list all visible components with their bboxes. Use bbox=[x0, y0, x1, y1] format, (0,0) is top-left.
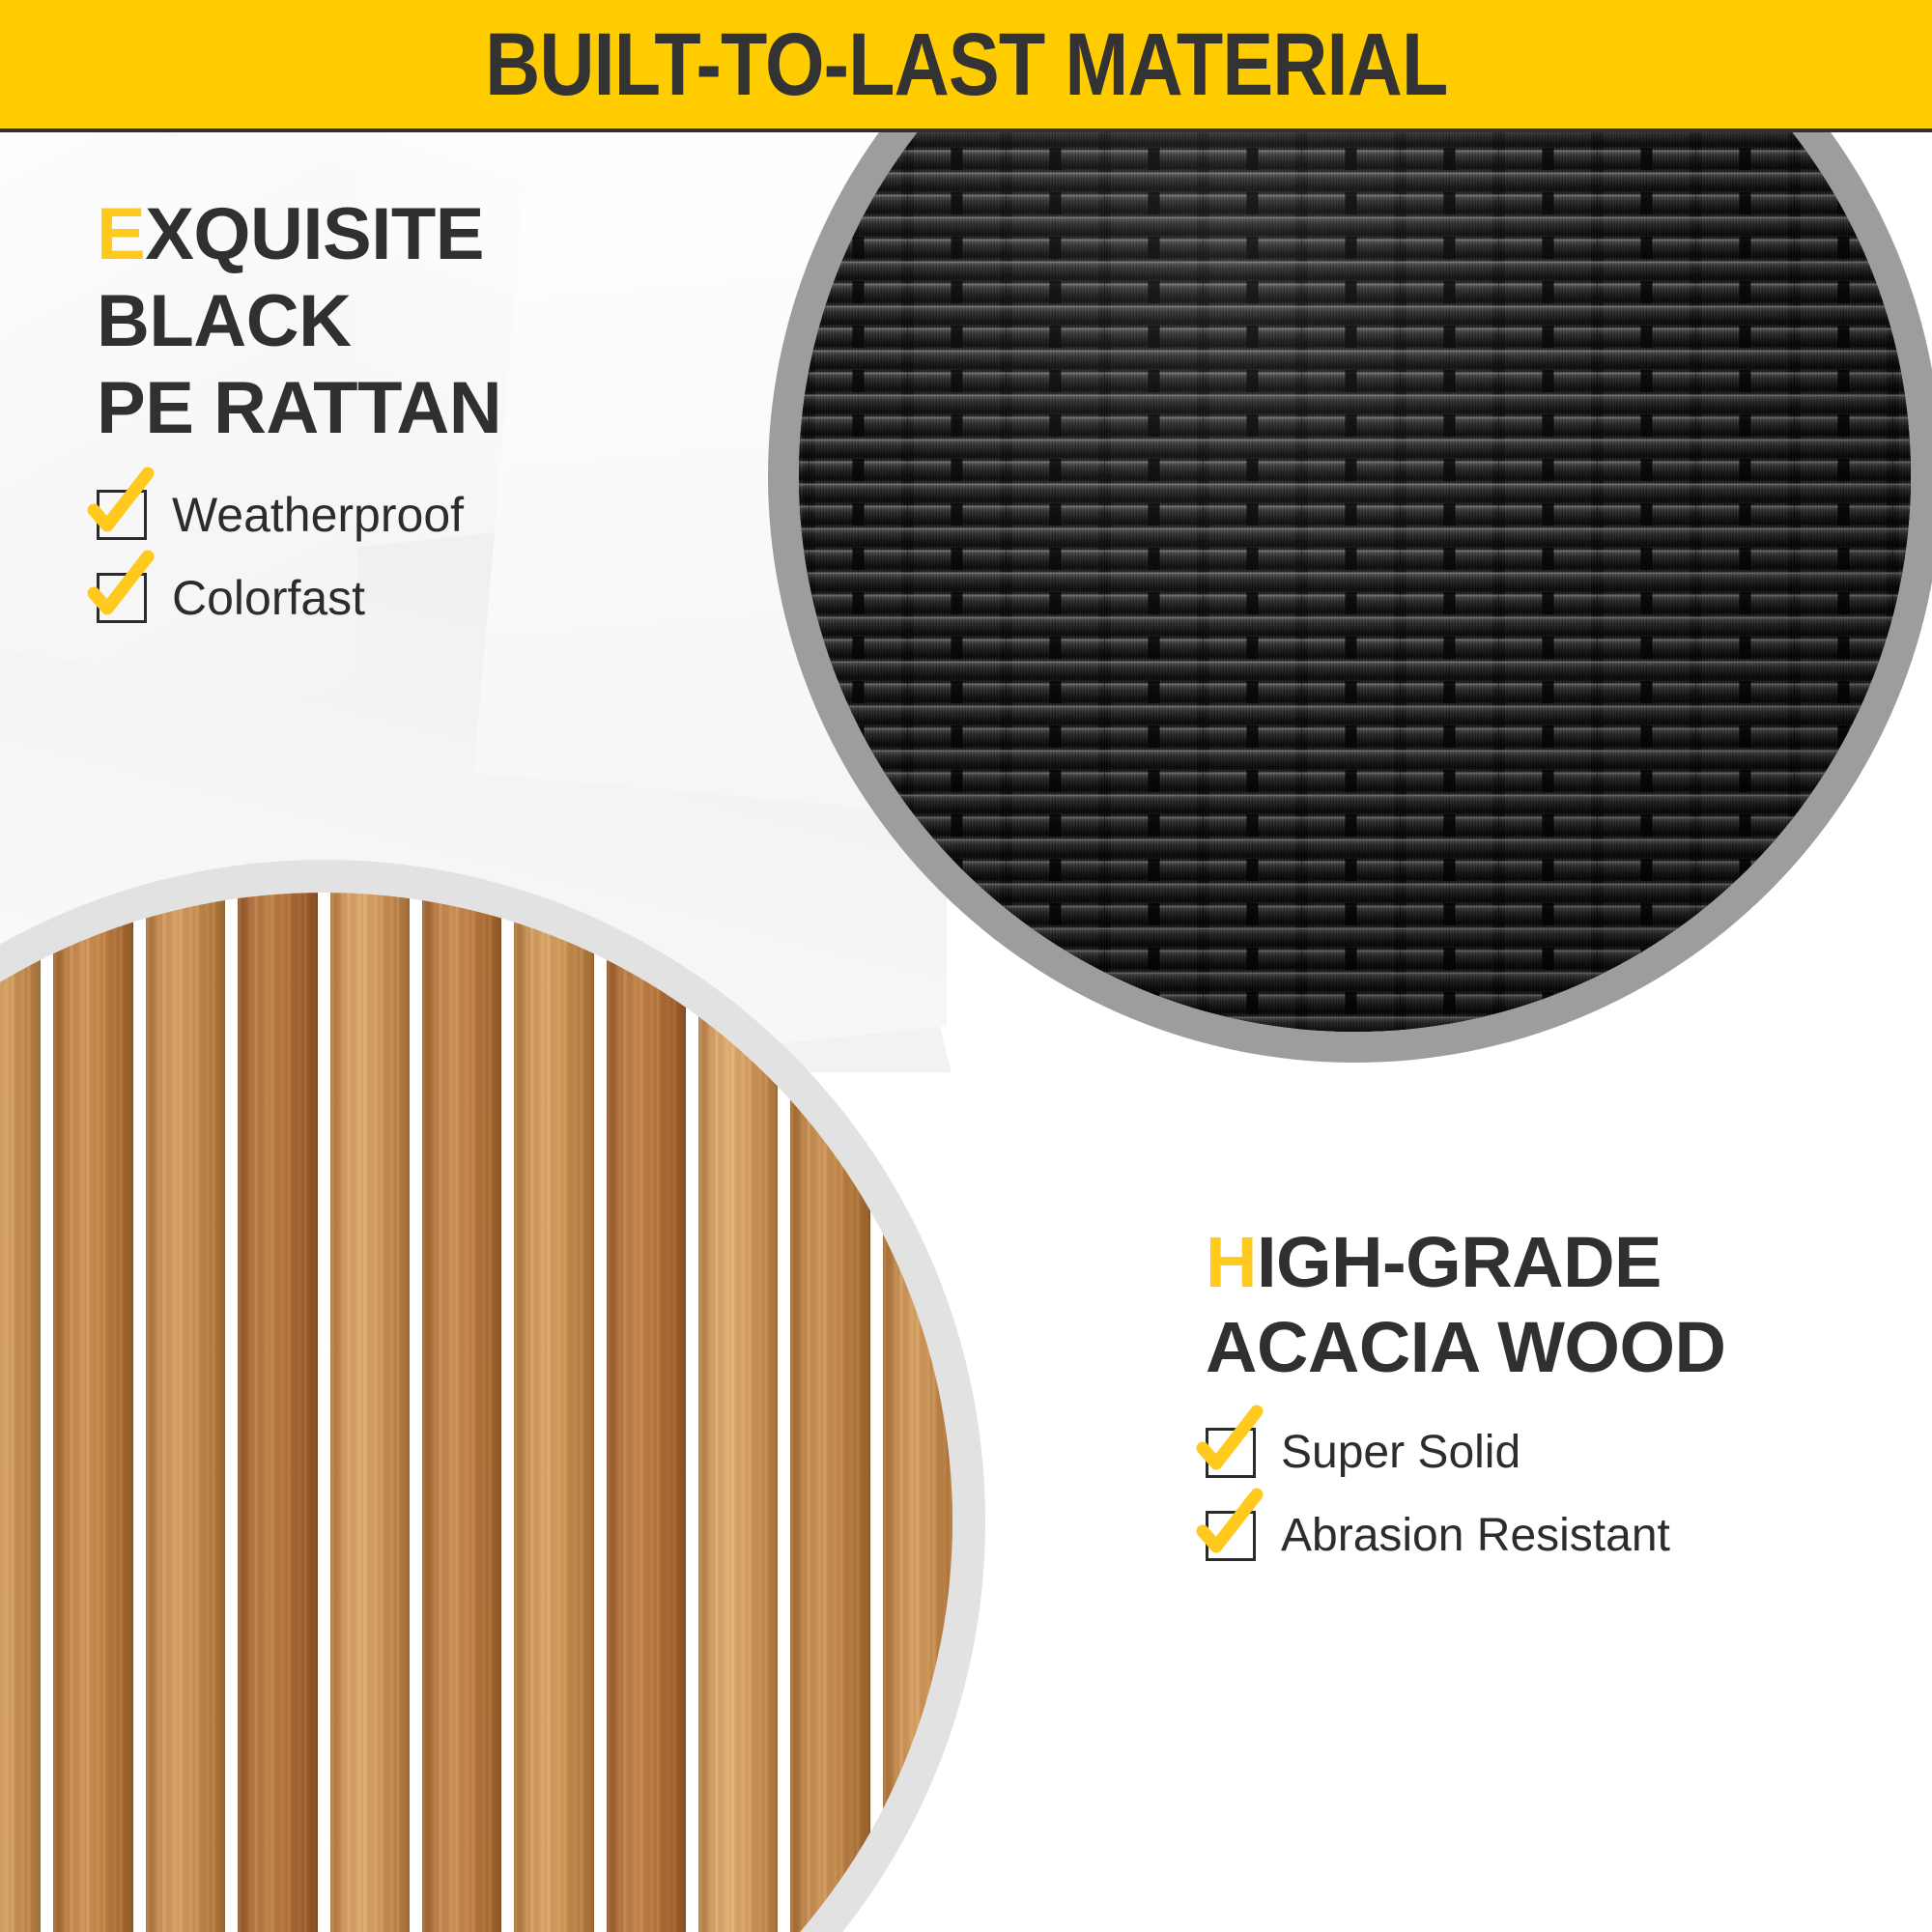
wood-heading-line-1: HIGH-GRADE bbox=[1206, 1227, 1882, 1298]
rattan-heading: EXQUISITE BLACK PE RATTAN bbox=[97, 198, 696, 445]
rattan-heading-line-1-rest: XQUISITE bbox=[145, 193, 484, 275]
checkbox-checked-icon bbox=[1206, 1428, 1256, 1478]
wood-heading-line-2: ACACIA WOOD bbox=[1206, 1312, 1882, 1383]
wood-slat bbox=[146, 893, 225, 1932]
wood-bullet-label-2: Abrasion Resistant bbox=[1281, 1513, 1670, 1559]
wood-slat bbox=[698, 893, 778, 1932]
rattan-circle-image bbox=[799, 0, 1911, 1032]
rattan-bullet-list: Weatherproof Colorfast bbox=[97, 490, 696, 623]
rattan-bullet-label-1: Weatherproof bbox=[172, 491, 464, 539]
wood-heading-accent-letter: H bbox=[1206, 1222, 1257, 1302]
checkbox-checked-icon bbox=[97, 573, 147, 623]
infographic-canvas: BUILT-TO-LAST MATERIAL EXQUISITE BLACK P… bbox=[0, 0, 1932, 1932]
rattan-heading-line-2: BLACK bbox=[97, 285, 696, 358]
wood-slat bbox=[514, 893, 593, 1932]
wood-slat bbox=[607, 893, 686, 1932]
wood-bullet-item-2: Abrasion Resistant bbox=[1206, 1511, 1882, 1561]
rattan-heading-line-1: EXQUISITE bbox=[97, 198, 696, 271]
wood-slat bbox=[330, 893, 410, 1932]
rattan-bullet-item-2: Colorfast bbox=[97, 573, 696, 623]
wood-heading: HIGH-GRADE ACACIA WOOD bbox=[1206, 1227, 1882, 1383]
wood-slat bbox=[0, 893, 41, 1932]
rattan-heading-accent-letter: E bbox=[97, 193, 145, 275]
banner-title: BUILT-TO-LAST MATERIAL bbox=[485, 20, 1447, 109]
rattan-bullet-label-2: Colorfast bbox=[172, 574, 365, 622]
feature-block-rattan: EXQUISITE BLACK PE RATTAN Weatherproof bbox=[97, 198, 696, 623]
header-banner: BUILT-TO-LAST MATERIAL bbox=[0, 0, 1932, 132]
wood-slat bbox=[422, 893, 501, 1932]
wood-heading-line-1-rest: IGH-GRADE bbox=[1257, 1222, 1662, 1302]
checkbox-checked-icon bbox=[1206, 1511, 1256, 1561]
wood-bullet-label-1: Super Solid bbox=[1281, 1430, 1520, 1476]
feature-block-wood: HIGH-GRADE ACACIA WOOD Super Solid Abras… bbox=[1206, 1227, 1882, 1561]
rattan-bullet-item-1: Weatherproof bbox=[97, 490, 696, 540]
checkbox-checked-icon bbox=[97, 490, 147, 540]
black-pe-rattan-photo-circle bbox=[768, 0, 1932, 1063]
wood-slat bbox=[238, 893, 317, 1932]
rattan-heading-line-3: PE RATTAN bbox=[97, 372, 696, 445]
wood-slat bbox=[53, 893, 132, 1932]
wood-bullet-list: Super Solid Abrasion Resistant bbox=[1206, 1428, 1882, 1561]
wood-bullet-item-1: Super Solid bbox=[1206, 1428, 1882, 1478]
